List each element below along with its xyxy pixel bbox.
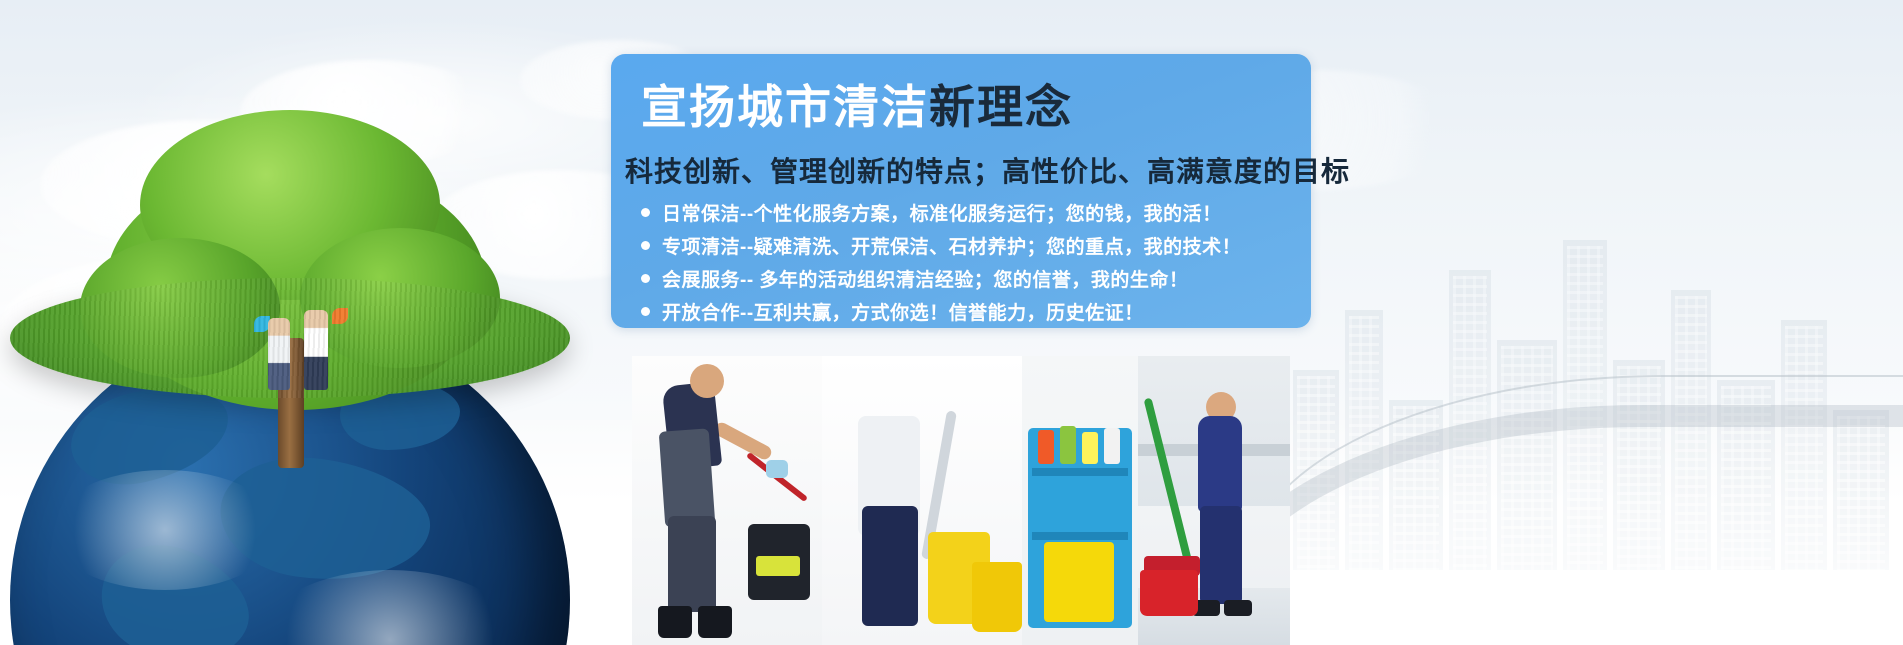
worker-apron: [659, 428, 716, 527]
red-mop-bucket: [1140, 570, 1198, 616]
cloud-swirl: [50, 470, 280, 590]
headline-highlight: 宣扬城市清洁: [641, 81, 929, 133]
page-title: 宣扬城市清洁新理念: [641, 84, 1073, 130]
earth-with-tree-illustration: [0, 150, 580, 645]
child-figure: [268, 318, 290, 390]
cloud-swirl: [260, 570, 520, 645]
worker-head: [690, 364, 724, 398]
worker-boot: [698, 606, 732, 638]
list-item: 开放合作--互利共赢，方式你选！信誉能力，历史佐证！: [641, 295, 1241, 328]
list-item-label: 会展服务-- 多年的活动组织清洁经验；您的信誉，我的生命！: [662, 265, 1188, 292]
list-item-label: 日常保洁--个性化服务方案，标准化服务运行；您的钱，我的活！: [662, 199, 1222, 226]
tree-canopy: [80, 238, 280, 378]
list-item: 日常保洁--个性化服务方案，标准化服务运行；您的钱，我的活！: [641, 196, 1241, 229]
yellow-bin: [1044, 542, 1114, 622]
message-panel: 宣扬城市清洁新理念 科技创新、管理创新的特点；高性价比、高满意度的目标 日常保洁…: [611, 54, 1311, 328]
worker-trousers: [862, 506, 918, 626]
yellow-wringer: [972, 562, 1022, 632]
child-figure: [304, 310, 328, 390]
worker-legs: [668, 516, 716, 612]
worker-shoe: [1224, 600, 1252, 616]
photo-mop-bucket-and-wringer: [822, 356, 1022, 645]
list-item: 会展服务-- 多年的活动组织清洁经验；您的信誉，我的生命！: [641, 262, 1241, 295]
list-item-label: 开放合作--互利共赢，方式你选！信誉能力，历史佐证！: [662, 298, 1144, 325]
bullet-dot-icon: [641, 307, 650, 316]
worker-legs: [1200, 506, 1242, 604]
spray-bottle-icon: [1038, 430, 1054, 464]
tree-canopy: [300, 228, 500, 368]
worker-arm: [712, 420, 773, 461]
worker-boot: [658, 606, 692, 638]
spray-bottle-icon: [1082, 432, 1098, 464]
photo-worker-with-floor-machine: [632, 356, 822, 645]
bullet-dot-icon: [641, 208, 650, 217]
list-item-label: 专项清洁--疑难清洗、开荒保洁、石材养护；您的重点，我的技术！: [662, 232, 1241, 259]
photo-strip: [632, 356, 1290, 645]
pinwheel-icon: [254, 316, 270, 332]
list-item: 专项清洁--疑难清洗、开荒保洁、石材养护；您的重点，我的技术！: [641, 229, 1241, 262]
headline-rest: 新理念: [929, 81, 1073, 133]
bullet-dot-icon: [641, 274, 650, 283]
floor-machine-panel: [756, 556, 800, 576]
pinwheel-icon: [332, 308, 348, 324]
trolley-shelf: [1032, 532, 1128, 540]
promotional-banner: 宣扬城市清洁新理念 科技创新、管理创新的特点；高性价比、高满意度的目标 日常保洁…: [0, 0, 1903, 645]
spray-bottle-icon: [1104, 428, 1120, 464]
worker-glove: [766, 460, 788, 478]
worker-torso: [1198, 416, 1242, 512]
spray-bottle-icon: [1060, 426, 1076, 464]
tree-trunk: [278, 338, 304, 468]
photo-worker-mopping-kitchen-floor: [1138, 356, 1290, 645]
grass-dome: [10, 278, 570, 398]
trolley-shelf: [1032, 468, 1128, 476]
subtitle: 科技创新、管理创新的特点；高性价比、高满意度的目标: [625, 150, 1350, 190]
bullet-dot-icon: [641, 241, 650, 250]
photo-cleaning-supply-trolley: [1022, 356, 1138, 645]
feature-list: 日常保洁--个性化服务方案，标准化服务运行；您的钱，我的活！ 专项清洁--疑难清…: [641, 196, 1241, 328]
